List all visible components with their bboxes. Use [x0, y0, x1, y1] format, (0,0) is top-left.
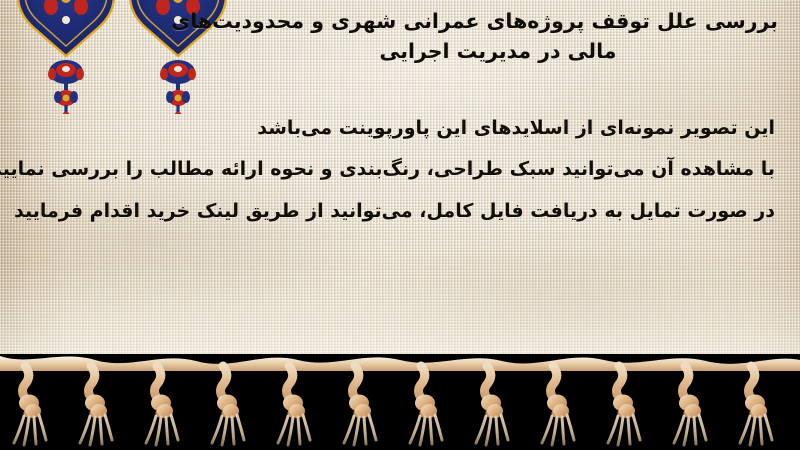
title-line-2: مالی در مدیریت اجرایی: [218, 37, 778, 67]
body-line-3: در صورت تمایل به دریافت فایل کامل، می‌تو…: [23, 191, 775, 232]
slide-text-layer: بررسی علل توقف پروژه‌های عمرانی شهری و م…: [0, 0, 800, 388]
slide-title: بررسی علل توقف پروژه‌های عمرانی شهری و م…: [218, 7, 778, 66]
title-line-1: بررسی علل توقف پروژه‌های عمرانی شهری و م…: [218, 7, 778, 37]
slide-root: بررسی علل توقف پروژه‌های عمرانی شهری و م…: [0, 0, 800, 450]
carpet-fringe-band: [0, 354, 800, 450]
slide-body: این تصویر نمونه‌ای از اسلایدهای این پاور…: [23, 108, 775, 232]
body-line-1: این تصویر نمونه‌ای از اسلایدهای این پاور…: [23, 108, 775, 149]
body-line-2: با مشاهده آن می‌توانید سبک طراحی، رنگ‌بن…: [23, 149, 775, 190]
